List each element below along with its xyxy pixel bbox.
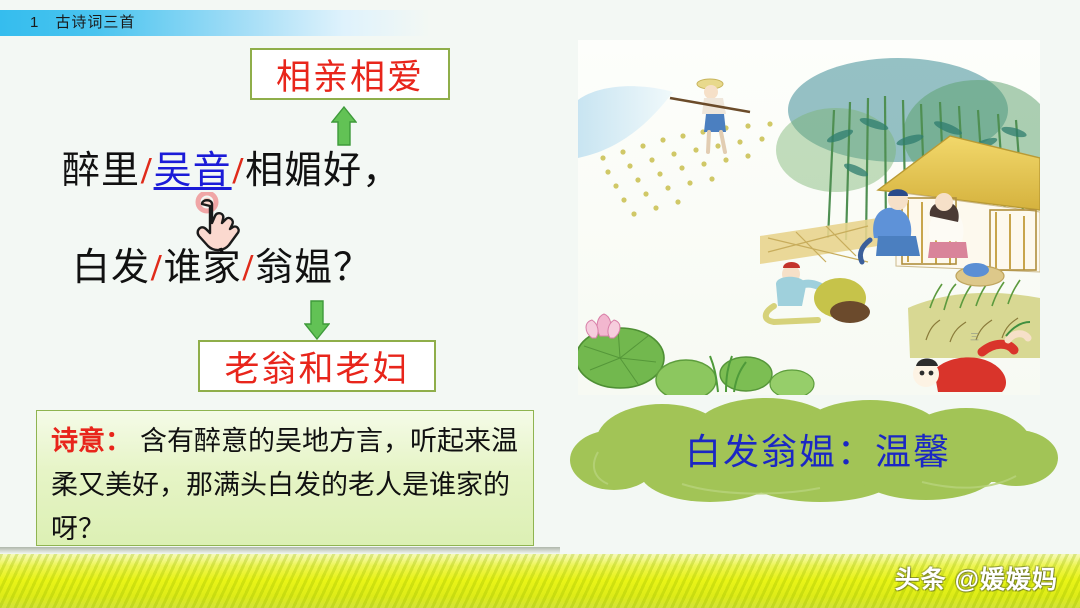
concept-box-top-label: 相亲相爱 [276,49,424,100]
poem-l2-slash1: / [150,247,164,289]
poem-l2-slash2: / [242,247,256,289]
poem-meaning-text: 诗意：含有醉意的吴地方言，听起来温柔又美好，那满头白发的老人是谁家的呀？ [51,419,521,551]
poem-l1-slash2: / [232,150,246,192]
lesson-title: 古诗词三首 [55,14,135,31]
watermark-text: 头条 @媛媛妈 [895,560,1058,596]
field-band-shadow [0,547,560,554]
poem-l2-part3: 翁媪？ [255,247,372,289]
poem-l1-part2: 相媚好， [245,150,401,192]
poem-line-2: 白发/谁家/翁媪？ [72,236,372,291]
village-life-watercolor-illustration: 三 [578,40,1040,395]
poem-meaning-label: 诗意： [51,426,132,456]
poem-l1-part1: 醉里 [62,150,140,192]
svg-text:三: 三 [970,332,979,342]
page-title: 1古诗词三首 [30,11,135,32]
arrow-down-icon [304,300,330,340]
lesson-number: 1 [30,14,39,31]
cloud-callout-text: 白发翁媪：温馨 [570,396,1060,502]
slide-canvas: 1古诗词三首 相亲相爱 醉里/吴音/相媚好， 白发/谁家/翁媪？ 老翁和老妇 [0,0,1080,608]
poem-line-1: 醉里/吴音/相媚好， [62,139,401,194]
poem-l2-part2: 谁家 [164,247,242,289]
concept-box-bottom-label: 老翁和老妇 [224,341,409,392]
poem-l1-slash1: / [140,150,154,192]
poem-keyword-wuyin[interactable]: 吴音 [154,150,232,192]
concept-box-laowenghelaofu: 老翁和老妇 [198,340,436,392]
cloud-callout: 白发翁媪：温馨 [570,396,1060,502]
poem-meaning-box: 诗意：含有醉意的吴地方言，听起来温柔又美好，那满头白发的老人是谁家的呀？ [36,410,534,546]
concept-box-xiangqinxiangai: 相亲相爱 [250,48,450,100]
poem-l2-part1: 白发 [72,247,150,289]
